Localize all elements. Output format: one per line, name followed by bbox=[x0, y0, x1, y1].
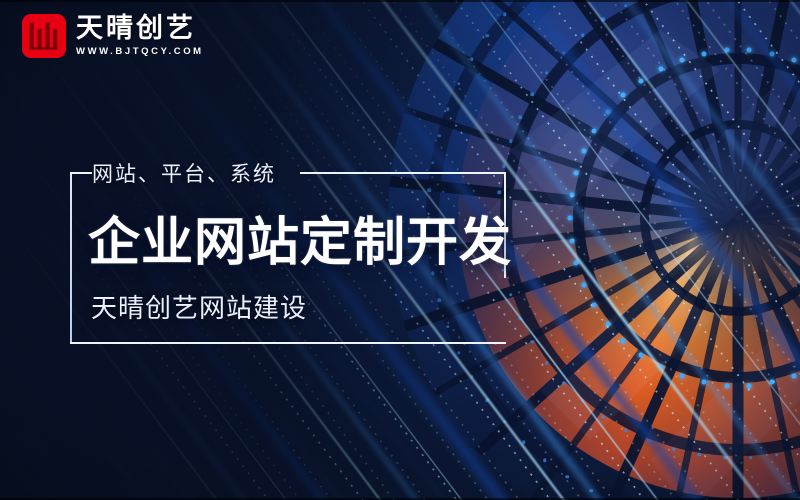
logo-website-url: WWW.BJTQCY.COM bbox=[76, 46, 204, 57]
hero-headline: 企业网站定制开发 bbox=[88, 200, 512, 275]
hero-subline: 天晴创艺网站建设 bbox=[91, 288, 307, 325]
promo-banner: 天晴创艺 WWW.BJTQCY.COM 网站、平台、系统 企业网站定制开发 天晴… bbox=[0, 0, 800, 500]
brand-logo[interactable]: 天晴创艺 WWW.BJTQCY.COM bbox=[22, 14, 204, 58]
hero-eyebrow: 网站、平台、系统 bbox=[92, 158, 276, 188]
logo-company-name: 天晴创艺 bbox=[76, 15, 204, 42]
banner-top-edge bbox=[0, 0, 800, 2]
logo-glyph-icon bbox=[28, 21, 60, 51]
logo-mark-icon bbox=[22, 14, 66, 58]
logo-text-block: 天晴创艺 WWW.BJTQCY.COM bbox=[76, 15, 204, 57]
